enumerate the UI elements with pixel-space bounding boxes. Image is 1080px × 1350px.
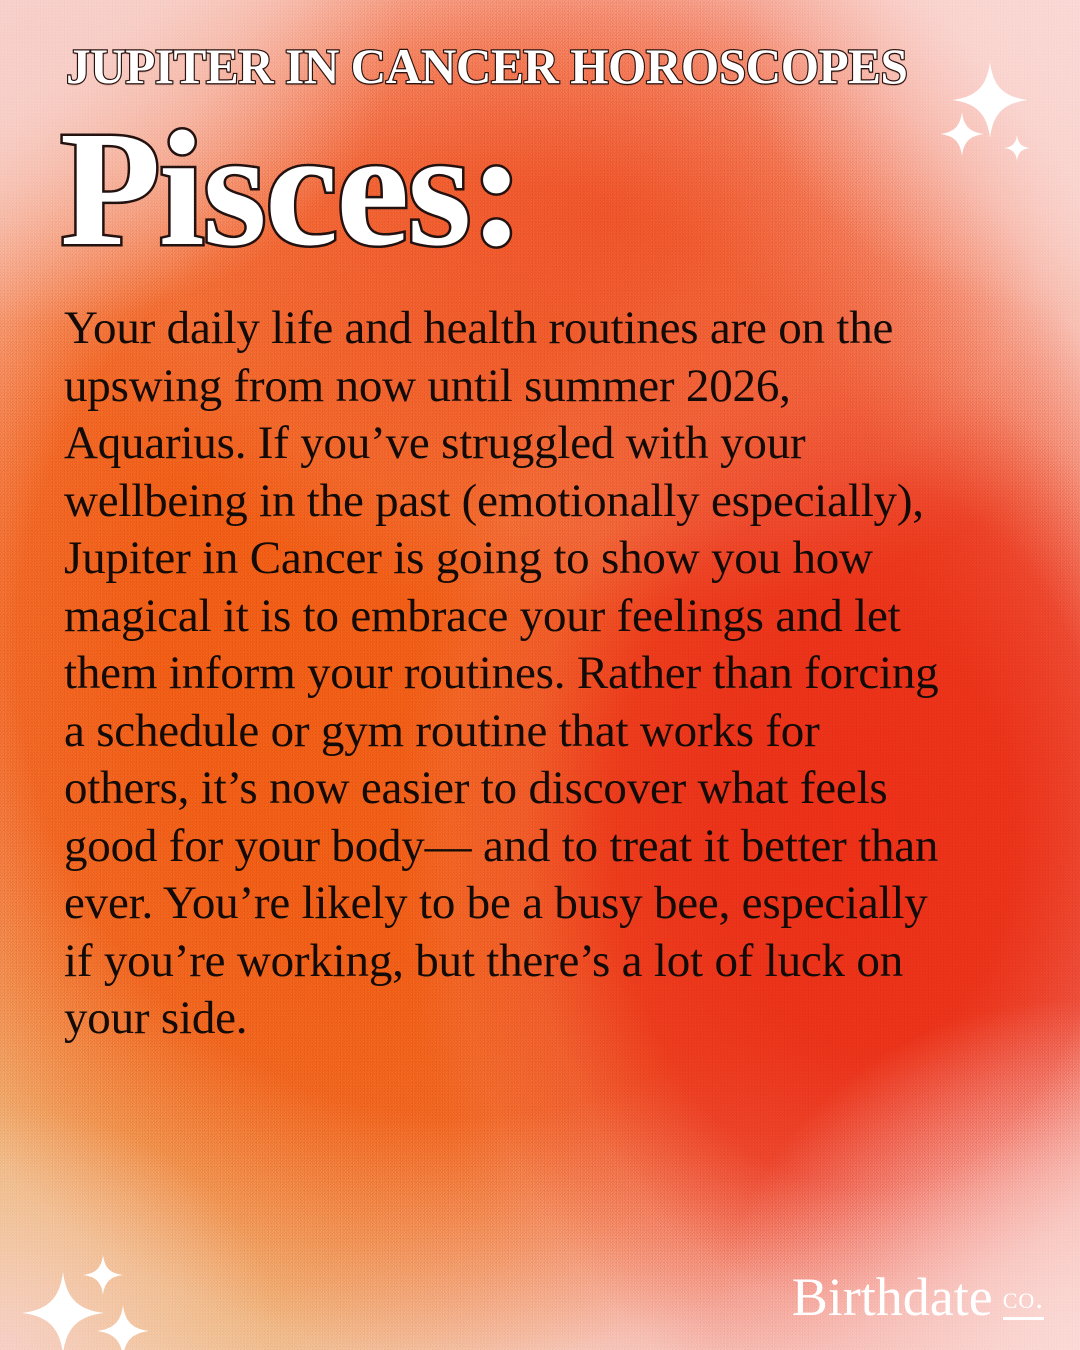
brand-logo-underline: [1003, 1317, 1044, 1320]
series-kicker-heading: JUPITER IN CANCER HOROSCOPES: [66, 40, 953, 92]
brand-logo: Birthdate Co.: [792, 1270, 1044, 1324]
page-title: Pisces:: [60, 104, 522, 274]
horoscope-card: JUPITER IN CANCER HOROSCOPES Pisces: You…: [0, 0, 1080, 1350]
brand-logo-suffix-group: Co.: [1003, 1282, 1044, 1324]
brand-logo-wordmark: Birthdate: [792, 1270, 993, 1324]
brand-logo-suffix: Co.: [1003, 1282, 1044, 1313]
horoscope-body-text: Your daily life and health routines are …: [64, 300, 944, 1048]
